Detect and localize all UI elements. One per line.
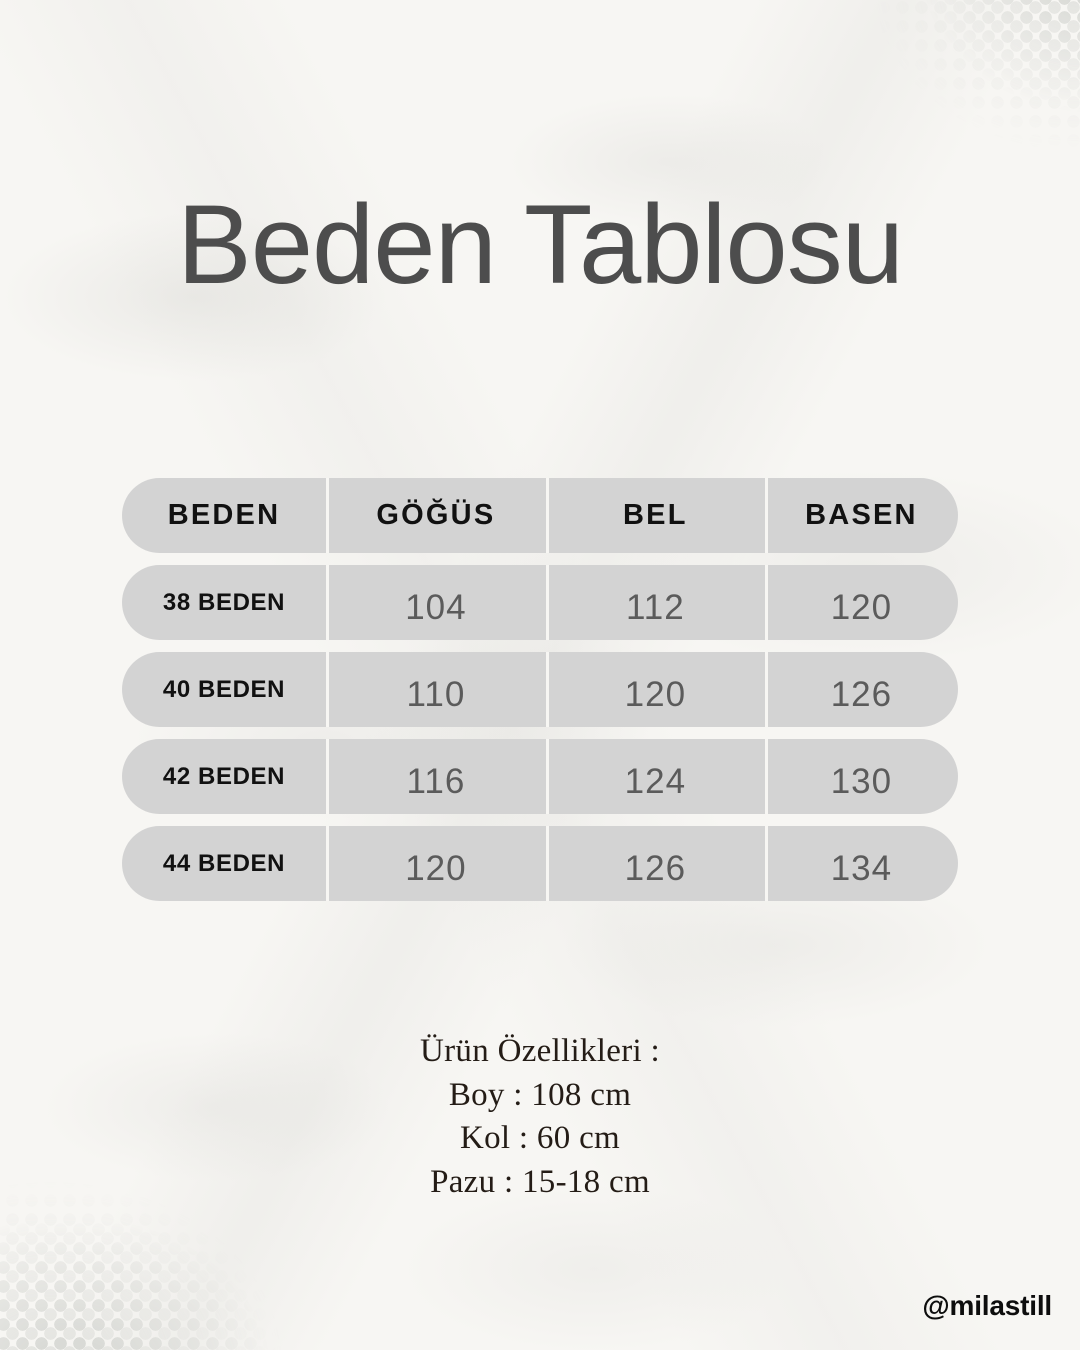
brand-handle: @milastill [922, 1290, 1052, 1322]
row-waist-value: 124 [546, 739, 765, 814]
row-hip-value: 120 [765, 565, 958, 640]
row-waist-value: 126 [546, 826, 765, 901]
product-details: Ürün Özellikleri : Boy : 108 cm Kol : 60… [0, 1030, 1080, 1204]
product-detail-length: Boy : 108 cm [0, 1074, 1080, 1118]
product-details-heading: Ürün Özellikleri : [0, 1030, 1080, 1074]
row-bust-value: 120 [326, 826, 546, 901]
row-hip-value: 126 [765, 652, 958, 727]
row-bust-value: 116 [326, 739, 546, 814]
table-row: 44 BEDEN 120 126 134 [122, 826, 958, 901]
row-hip-value: 130 [765, 739, 958, 814]
row-waist-value: 120 [546, 652, 765, 727]
table-row: 42 BEDEN 116 124 130 [122, 739, 958, 814]
column-header-bust: GÖĞÜS [326, 478, 546, 553]
column-header-size: BEDEN [122, 478, 326, 553]
size-chart-table: BEDEN GÖĞÜS BEL BASEN 38 BEDEN 104 112 1… [122, 478, 958, 901]
row-hip-value: 134 [765, 826, 958, 901]
table-row: 40 BEDEN 110 120 126 [122, 652, 958, 727]
column-header-waist: BEL [546, 478, 765, 553]
row-size-label: 40 BEDEN [122, 652, 326, 727]
poster-canvas: Beden Tablosu BEDEN GÖĞÜS BEL BASEN 38 B… [0, 0, 1080, 1350]
row-bust-value: 104 [326, 565, 546, 640]
row-waist-value: 112 [546, 565, 765, 640]
row-size-label: 42 BEDEN [122, 739, 326, 814]
row-size-label: 38 BEDEN [122, 565, 326, 640]
row-bust-value: 110 [326, 652, 546, 727]
table-row: 38 BEDEN 104 112 120 [122, 565, 958, 640]
halftone-dots-top-right [770, 0, 1080, 205]
product-detail-sleeve: Kol : 60 cm [0, 1117, 1080, 1161]
row-size-label: 44 BEDEN [122, 826, 326, 901]
column-header-hip: BASEN [765, 478, 958, 553]
page-title: Beden Tablosu [0, 186, 1080, 304]
product-detail-bicep: Pazu : 15-18 cm [0, 1161, 1080, 1205]
table-header-row: BEDEN GÖĞÜS BEL BASEN [122, 478, 958, 553]
